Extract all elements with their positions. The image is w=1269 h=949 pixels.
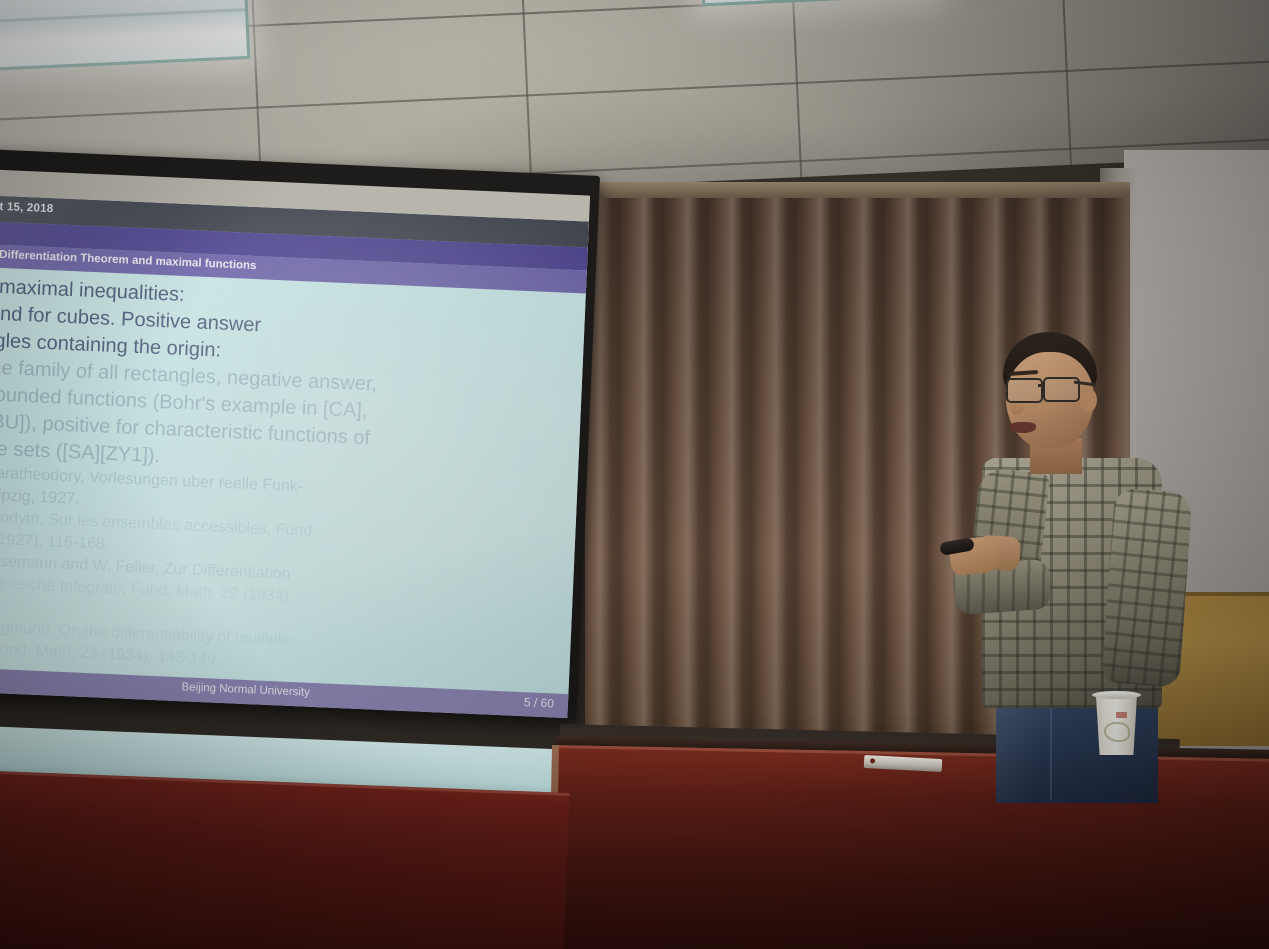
projection-screen: iversity, Wuhan, Oct 15, 2018 round ic v… (0, 147, 600, 735)
slide-header-line-1: iversity, Wuhan, Oct 15, 2018 (0, 196, 54, 215)
ceiling-light-panel-right (699, 0, 938, 6)
eyeglasses-left-lens (1006, 378, 1043, 403)
ceiling-light-panel-left (0, 0, 250, 71)
speaker (930, 330, 1220, 800)
screen-inner-frame: iversity, Wuhan, Oct 15, 2018 round ic v… (0, 167, 590, 705)
slide-body: Existence of maximal inequalities:(i) Fo… (0, 269, 585, 686)
slide-page-number: 5 / 60 (524, 695, 555, 710)
curtain-rail (585, 182, 1130, 198)
speaker-right-arm (1101, 488, 1192, 688)
slide-surface: iversity, Wuhan, Oct 15, 2018 round ic v… (0, 193, 589, 718)
lecture-hall-photo: iversity, Wuhan, Oct 15, 2018 round ic v… (0, 0, 1269, 949)
wooden-desk-left (0, 770, 570, 949)
